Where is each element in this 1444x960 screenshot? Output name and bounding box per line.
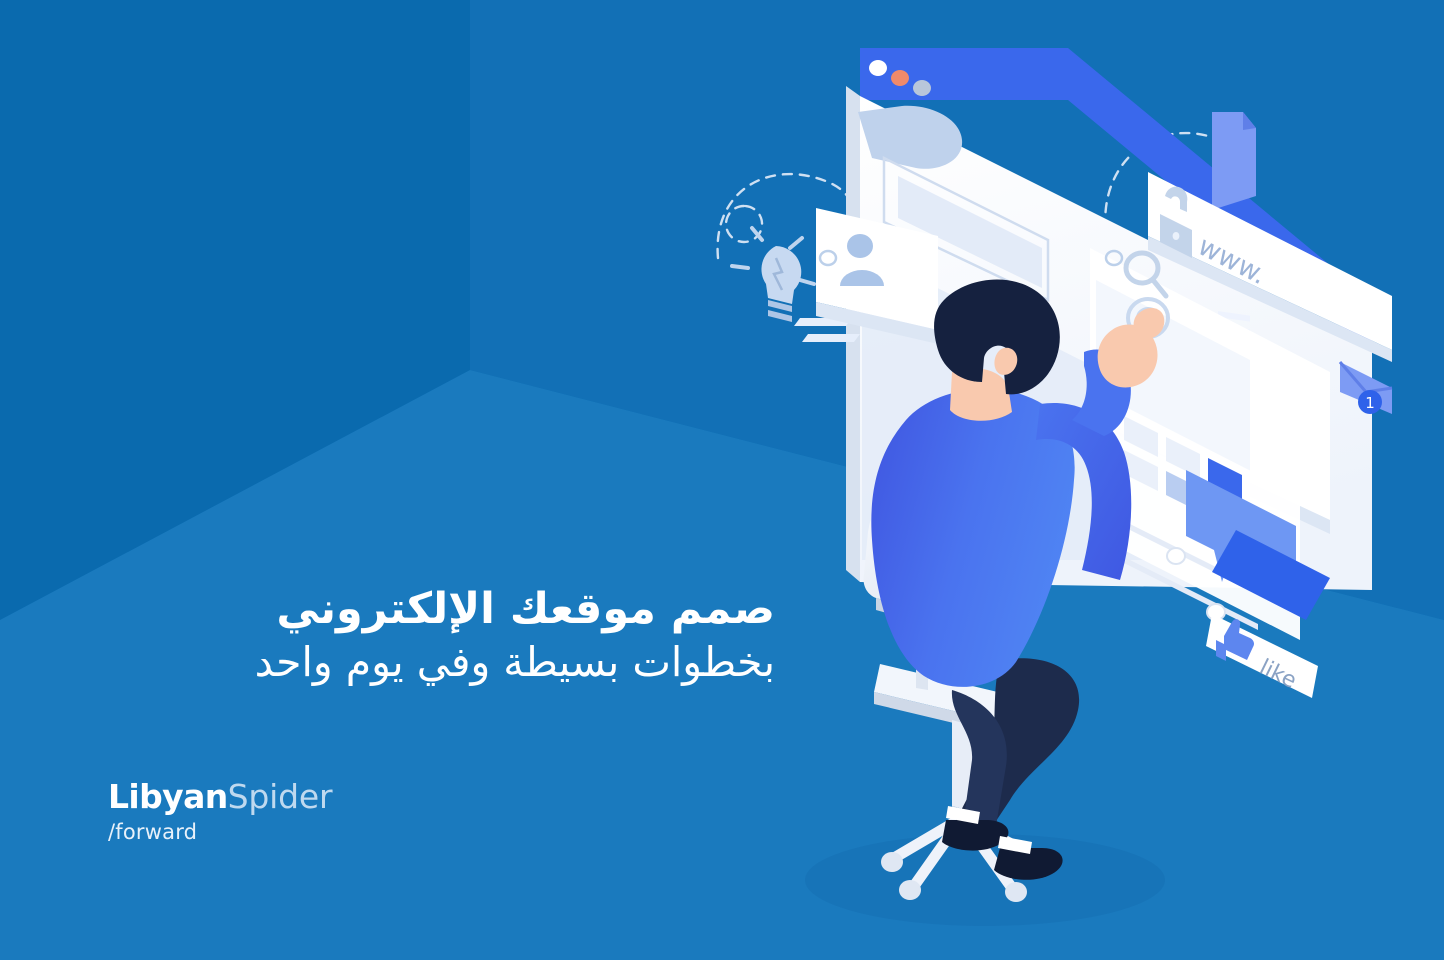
poster-canvas: www. bbox=[0, 0, 1444, 960]
brand-tagline: /forward bbox=[108, 820, 332, 844]
brand-name-light: Spider bbox=[228, 777, 333, 816]
page-title: صمم موقعك الإلكتروني bbox=[0, 585, 775, 635]
brand-name-bold: Libyan bbox=[108, 777, 228, 816]
like-button[interactable]: like bbox=[1206, 614, 1318, 698]
brand-logo[interactable]: LibyanSpider /forward bbox=[108, 780, 332, 844]
page-subtitle: بخطوات بسيطة وفي يوم واحد bbox=[0, 639, 775, 687]
brand-logo-name: LibyanSpider bbox=[108, 780, 332, 814]
headline-block: صمم موقعك الإلكتروني بخطوات بسيطة وفي يو… bbox=[0, 585, 775, 686]
mail-badge-count: 1 bbox=[1365, 394, 1375, 412]
traffic-light-minimize-icon[interactable] bbox=[891, 70, 909, 86]
traffic-light-maximize-icon[interactable] bbox=[913, 80, 931, 96]
traffic-light-close-icon[interactable] bbox=[869, 60, 887, 76]
